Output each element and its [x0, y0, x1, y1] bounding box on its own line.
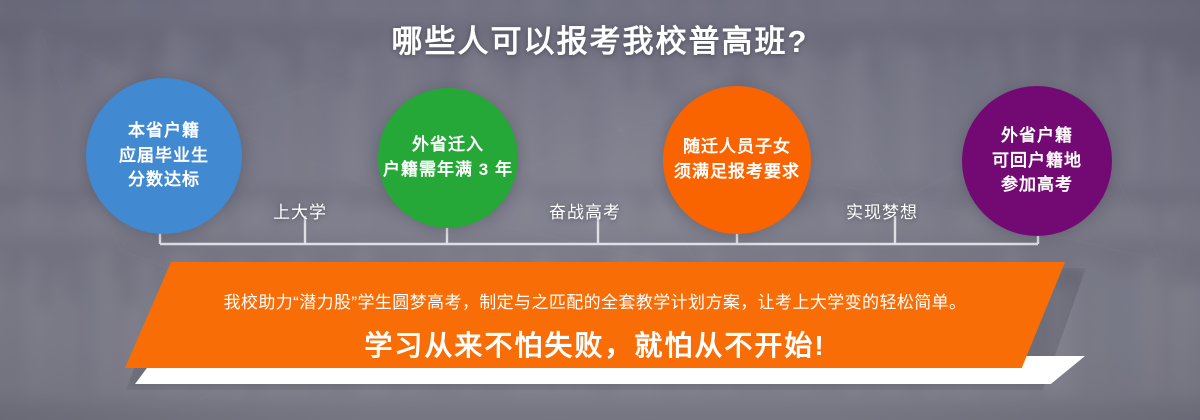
- banner-body: 我校助力“潜力股”学生圆梦高考，制定与之匹配的全套教学计划方案，让考上大学变的轻…: [125, 262, 1065, 368]
- bubble-orange-line-2: 须满足报考要求: [674, 160, 800, 185]
- bubble-green-line-1: 外省迁入: [383, 133, 513, 158]
- bubble-purple-line-2: 可回户籍地: [992, 149, 1082, 174]
- banner-stage: 哪些人可以报考我校普高班? 上大学 奋战高考 实现梦想 本省户籍 应届毕业生 分…: [0, 0, 1200, 420]
- connector-label-3: 实现梦想: [846, 198, 918, 223]
- connector-label-1: 上大学: [273, 198, 327, 223]
- bubble-orange-line-1: 随迁人员子女: [674, 135, 800, 160]
- bubble-purple-line-3: 参加高考: [992, 173, 1082, 198]
- bubble-orange[interactable]: 随迁人员子女 须满足报考要求: [663, 86, 811, 234]
- banner-description: 我校助力“潜力股”学生圆梦高考，制定与之匹配的全套教学计划方案，让考上大学变的轻…: [125, 288, 1065, 313]
- bubble-green[interactable]: 外省迁入 户籍需年满 3 年: [378, 88, 518, 228]
- promo-banner: 我校助力“潜力股”学生圆梦高考，制定与之匹配的全套教学计划方案，让考上大学变的轻…: [0, 262, 1200, 396]
- bubble-blue-line-2: 应届毕业生: [119, 144, 209, 169]
- bubble-green-line-2: 户籍需年满 3 年: [383, 158, 513, 183]
- bubble-blue[interactable]: 本省户籍 应届毕业生 分数达标: [86, 78, 242, 234]
- bubble-blue-line-1: 本省户籍: [119, 119, 209, 144]
- bubble-purple-line-1: 外省户籍: [992, 124, 1082, 149]
- bubble-purple[interactable]: 外省户籍 可回户籍地 参加高考: [962, 86, 1112, 236]
- bubble-blue-line-3: 分数达标: [119, 168, 209, 193]
- connector-label-2: 奋战高考: [549, 198, 621, 223]
- banner-slogan: 学习从来不怕失败，就怕从不开始!: [125, 324, 1065, 364]
